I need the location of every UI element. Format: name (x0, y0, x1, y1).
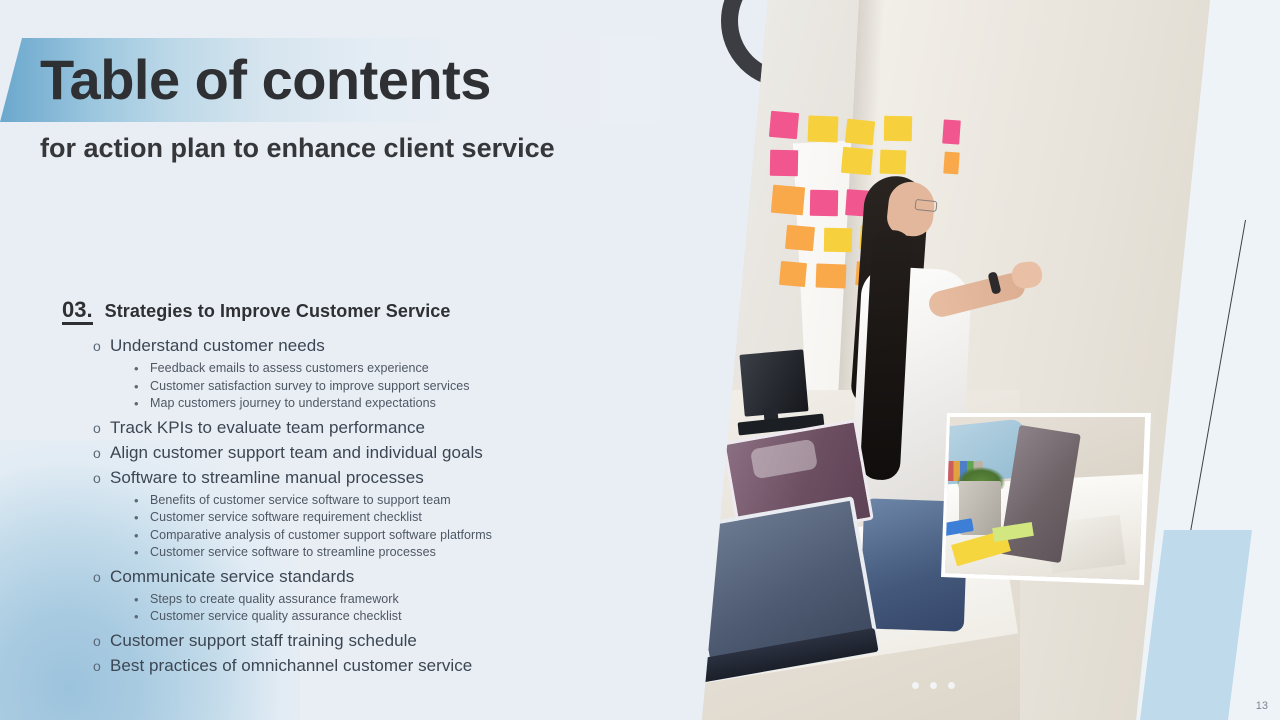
toc-subitem-label: Customer service quality assurance check… (150, 609, 402, 623)
toc-subitem-label: Customer service software requirement ch… (150, 510, 422, 524)
toc-subitem[interactable]: •Customer satisfaction survey to improve… (150, 378, 662, 396)
toc-bullet-icon: o (93, 654, 101, 679)
toc-subbullet-icon: • (134, 360, 139, 377)
toc-subitem-label: Benefits of customer service software to… (150, 493, 451, 507)
slide-canvas: Table of contents for action plan to enh… (0, 0, 1280, 720)
toc-item[interactable]: oCommunicate service standards•Steps to … (110, 565, 662, 626)
toc-subbullet-icon: • (134, 608, 139, 625)
toc-subbullet-icon: • (134, 378, 139, 395)
toc-item-label: Understand customer needs (110, 336, 325, 355)
page-subtitle: for action plan to enhance client servic… (40, 128, 560, 169)
toc-subitem[interactable]: •Customer service quality assurance chec… (150, 608, 662, 626)
dot-1 (912, 682, 919, 689)
toc-item[interactable]: oBest practices of omnichannel customer … (110, 654, 662, 678)
toc-item-label: Communicate service standards (110, 567, 354, 586)
toc-subitem[interactable]: •Map customers journey to understand exp… (150, 395, 662, 413)
sticky-note (824, 228, 852, 252)
toc-subitem-label: Customer satisfaction survey to improve … (150, 379, 470, 393)
toc-subbullet-icon: • (134, 395, 139, 412)
toc-subitem-label: Customer service software to streamline … (150, 545, 436, 559)
toc-item[interactable]: oAlign customer support team and individ… (110, 441, 662, 465)
toc-subitem[interactable]: •Customer service software to streamline… (150, 544, 662, 562)
photo-desk-plant-notebook (945, 417, 1145, 580)
toc-item-label: Track KPIs to evaluate team performance (110, 418, 425, 437)
toc-sublist: •Feedback emails to assess customers exp… (110, 360, 662, 413)
toc-sublist: •Benefits of customer service software t… (110, 492, 662, 562)
toc-bullet-icon: o (93, 565, 101, 590)
page-title: Table of contents (40, 49, 491, 111)
toc-sublist: •Steps to create quality assurance frame… (110, 591, 662, 626)
toc-item[interactable]: oCustomer support staff training schedul… (110, 629, 662, 653)
sticky-note (771, 185, 805, 216)
sticky-note (770, 150, 798, 176)
toc-subbullet-icon: • (134, 591, 139, 608)
sticky-note (785, 225, 815, 251)
sticky-note (816, 263, 847, 288)
sticky-note (841, 147, 873, 176)
toc-subbullet-icon: • (134, 509, 139, 526)
section-header: 03. Strategies to Improve Customer Servi… (62, 298, 662, 325)
toc-bullet-icon: o (93, 416, 101, 441)
sticky-note (769, 111, 799, 139)
toc-bullet-icon: o (93, 629, 101, 654)
toc-subbullet-icon: • (134, 544, 139, 561)
toc-subitem[interactable]: •Customer service software requirement c… (150, 509, 662, 527)
glasses-icon (914, 199, 937, 212)
toc-bullet-icon: o (93, 441, 101, 466)
dot-3 (948, 682, 955, 689)
toc-item-label: Best practices of omnichannel customer s… (110, 656, 472, 675)
toc-subbullet-icon: • (134, 527, 139, 544)
toc-subitem[interactable]: •Comparative analysis of customer suppor… (150, 527, 662, 545)
toc-bullet-icon: o (93, 466, 101, 491)
toc-item-label: Align customer support team and individu… (110, 443, 483, 462)
toc-item-label: Customer support staff training schedule (110, 631, 417, 650)
sticky-note (943, 152, 959, 175)
toc-subitem[interactable]: •Steps to create quality assurance frame… (150, 591, 662, 609)
sticky-note (880, 150, 907, 175)
dot-2 (930, 682, 937, 689)
toc-subitem-label: Comparative analysis of customer support… (150, 528, 492, 542)
toc-item[interactable]: oTrack KPIs to evaluate team performance (110, 416, 662, 440)
toc-item[interactable]: oUnderstand customer needs•Feedback emai… (110, 334, 662, 413)
toc-bullet-icon: o (93, 334, 101, 359)
page-number: 13 (1256, 700, 1268, 712)
toc-item-label: Software to streamline manual processes (110, 468, 424, 487)
photo-woman-sticky-notes-wall (690, 0, 1210, 720)
carousel-dots (912, 682, 955, 689)
sticky-note (845, 119, 875, 146)
section-title: Strategies to Improve Customer Service (105, 298, 451, 324)
table-of-contents-section: 03. Strategies to Improve Customer Servi… (62, 298, 662, 679)
section-number: 03. (62, 298, 93, 325)
sticky-note (808, 115, 839, 142)
monitor (739, 349, 808, 416)
toc-item[interactable]: oSoftware to streamline manual processes… (110, 466, 662, 562)
toc-subitem-label: Map customers journey to understand expe… (150, 396, 436, 410)
toc-subitem-label: Feedback emails to assess customers expe… (150, 361, 429, 375)
toc-subitem[interactable]: •Feedback emails to assess customers exp… (150, 360, 662, 378)
sticky-note (942, 119, 961, 144)
sticky-note (884, 116, 912, 141)
sticky-note (810, 190, 838, 216)
sticky-note (779, 261, 807, 287)
toc-subitem-label: Steps to create quality assurance framew… (150, 592, 399, 606)
toc-subitem[interactable]: •Benefits of customer service software t… (150, 492, 662, 510)
photo-scene (690, 0, 1210, 720)
toc-subbullet-icon: • (134, 492, 139, 509)
toc-list: oUnderstand customer needs•Feedback emai… (62, 334, 662, 678)
